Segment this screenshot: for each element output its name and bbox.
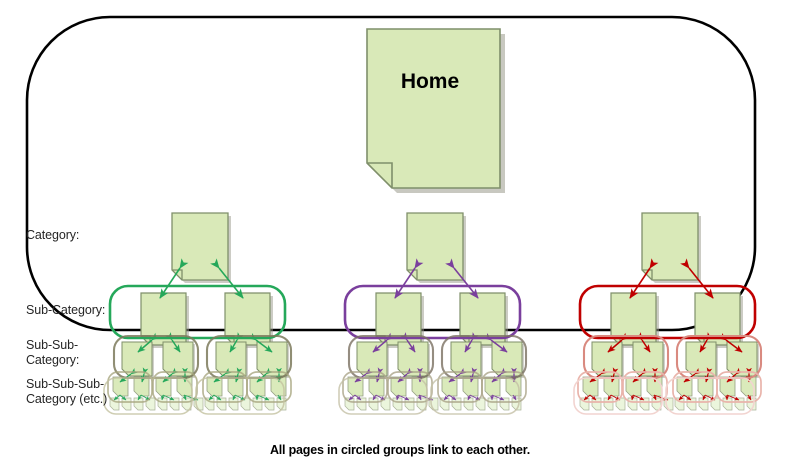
page-subcategory-purple-1 (376, 293, 424, 348)
sitemap-diagram (0, 0, 800, 475)
level-label-sub-category: Sub-Category: (26, 303, 105, 318)
page-subcategory-purple-2 (460, 293, 508, 348)
pages-subsubsubcategory-red (580, 377, 756, 410)
branch-red (574, 213, 761, 414)
page-subcategory-red-2 (695, 293, 743, 348)
pages-subsubsubcategory-green (110, 377, 286, 410)
branch-green (104, 213, 291, 414)
level-label-sub-sub-sub-category: Sub-Sub-Sub- Category (etc.) (26, 377, 107, 408)
diagram-canvas: Category: Sub-Category: Sub-Sub- Categor… (0, 0, 800, 475)
level-label-category: Category: (26, 228, 79, 243)
page-subcategory-green-2 (225, 293, 273, 348)
branch-purple (339, 213, 526, 414)
page-subcategory-red-1 (611, 293, 659, 348)
page-home (367, 29, 505, 193)
page-subcategory-green-1 (141, 293, 189, 348)
pages-subsubsubcategory-purple (345, 377, 521, 410)
diagram-caption: All pages in circled groups link to each… (0, 443, 800, 457)
level-label-sub-sub-category: Sub-Sub- Category: (26, 338, 79, 369)
